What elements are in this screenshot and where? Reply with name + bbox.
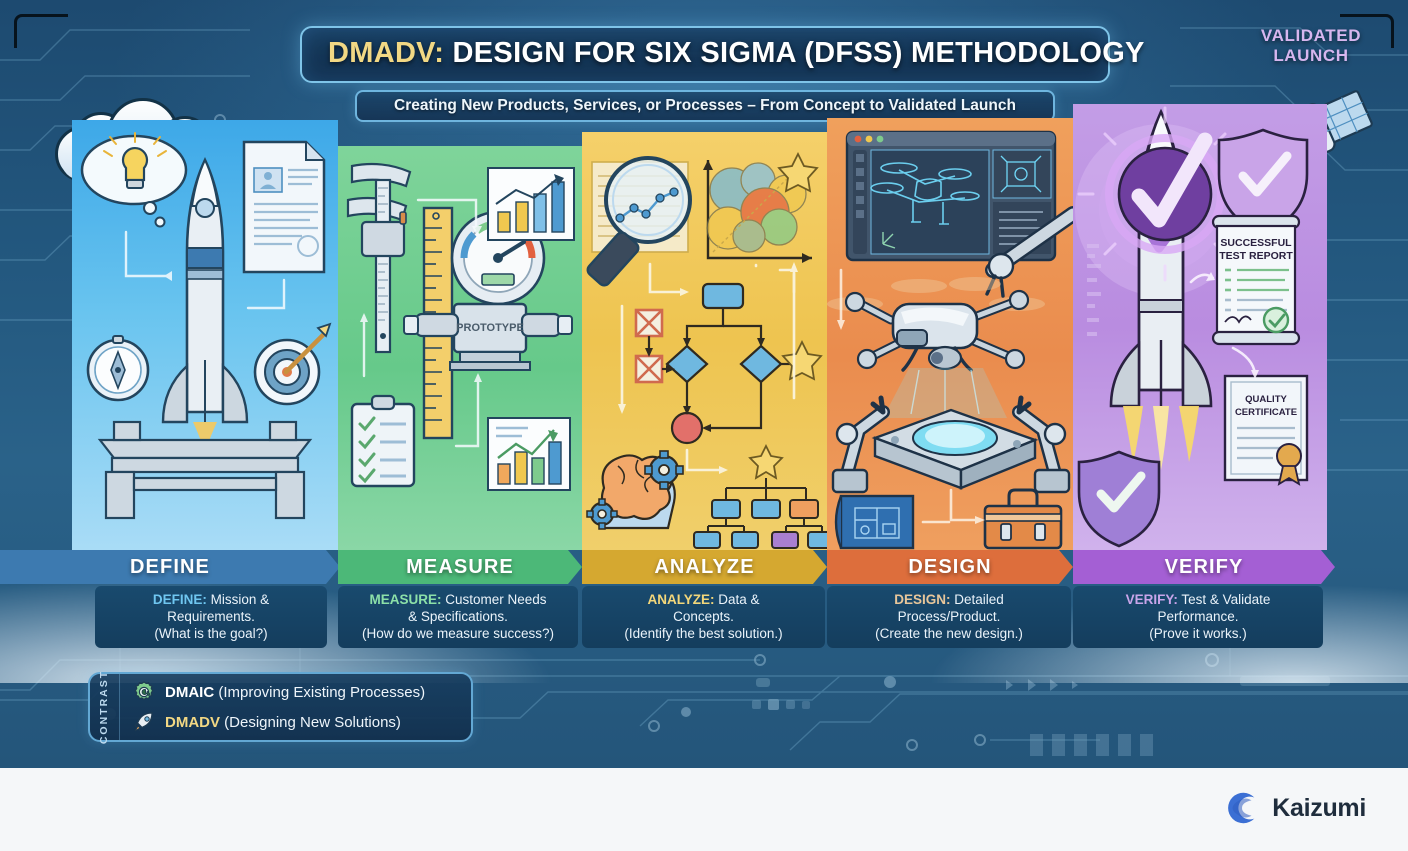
stage-banner-analyze[interactable]: ANALYZE [582,550,827,584]
gear-wrench-icon [132,680,156,704]
desc-line1: Customer Needs [441,592,546,607]
svg-text:CERTIFICATE: CERTIFICATE [1235,407,1297,418]
desc-line3: (What is the goal?) [103,625,319,642]
caliper-icon [348,164,410,352]
contrast-text-dmadv: DMADV (Designing New Solutions) [165,714,401,731]
desc-line3: (Create the new design.) [835,625,1063,642]
contrast-rest-dmadv: (Designing New Solutions) [220,714,401,731]
contrast-row-dmaic: DMAIC (Improving Existing Processes) [132,677,463,707]
desc-line3: (How do we measure success?) [346,625,570,642]
compass-icon [88,336,148,400]
desc-line3: (Prove it works.) [1081,625,1315,642]
stage-panel-measure[interactable]: PROTOTYPE [338,146,582,550]
toolbox-icon [985,490,1061,548]
title-rest: DESIGN FOR SIX SIGMA (DFSS) METHODOLOGY [444,37,1145,69]
footer: Kaizumi [0,768,1408,851]
target-arrow-icon [255,324,330,404]
contrast-bold-dmaic: DMAIC [165,684,214,701]
magnifier-chart-icon [585,158,690,288]
stage-banner-measure[interactable]: MEASURE [338,550,582,584]
define-artwork [72,120,338,550]
title-highlight: DMADV: [328,37,444,69]
brand-logo: Kaizumi [1223,789,1366,827]
svg-text:PROTOTYPE: PROTOTYPE [456,322,524,334]
stage-panel-define[interactable] [72,120,338,550]
header: DMADV: DESIGN FOR SIX SIGMA (DFSS) METHO… [300,26,1110,122]
validated-launch-label: VALIDATED LAUNCH [1236,26,1386,65]
contrast-bold-dmadv: DMADV [165,714,220,731]
desc-keyword: MEASURE: [369,592,441,607]
desc-line2: Performance. [1081,608,1315,625]
corner-bracket-decoration [14,14,68,48]
svg-text:SUCCESSFUL: SUCCESSFUL [1220,237,1292,249]
contrast-rest-dmaic: (Improving Existing Processes) [214,684,425,701]
page-title: DMADV: DESIGN FOR SIX SIGMA (DFSS) METHO… [328,37,1082,70]
shield-check-icon [1079,452,1159,546]
stage-banner-design[interactable]: DESIGN [827,550,1073,584]
stage-banner-label: MEASURE [406,556,514,579]
bubble-scatter-icon [703,154,817,263]
tree-diagram-icon [694,446,827,548]
stage-panel-verify[interactable]: SUCCESSFUL TEST REPORT QUALITY CERTIFICA… [1073,104,1327,550]
desc-line2: & Specifications. [346,608,570,625]
contrast-row-dmadv: DMADV (Designing New Solutions) [132,707,463,737]
blueprint-icon [836,496,913,548]
stage-description-verify: VERIFY: Test & Validate Performance. (Pr… [1073,586,1323,648]
desc-line1: Data & [714,592,759,607]
lightbulb-thought-icon [82,133,186,227]
desc-line1: Test & Validate [1178,592,1271,607]
brand-name: Kaizumi [1272,794,1366,823]
drone-icon [827,277,1045,418]
test-report-scroll-icon: SUCCESSFUL TEST REPORT [1213,216,1299,344]
svg-text:TEST REPORT: TEST REPORT [1219,250,1293,262]
title-banner: DMADV: DESIGN FOR SIX SIGMA (DFSS) METHO… [300,26,1110,83]
contrast-vertical-label: CONTRAST [90,674,120,740]
stage-description-design: DESIGN: Detailed Process/Product. (Creat… [827,586,1071,648]
stage-panels: PROTOTYPE [0,120,1408,550]
bar-chart-icon [488,168,574,240]
rocket-icon [132,710,156,734]
stage-description-define: DEFINE: Mission & Requirements. (What is… [95,586,327,648]
contrast-text-dmaic: DMAIC (Improving Existing Processes) [165,684,425,701]
desc-line2: Concepts. [590,608,817,625]
contrast-legend: CONTRAST DMAIC (Improving Existing Proce… [88,672,473,742]
stage-banner-label: DEFINE [130,556,210,579]
stage-banner-label: VERIFY [1165,556,1244,579]
bar-chart-icon [488,418,570,490]
desc-line2: Process/Product. [835,608,1063,625]
stage-banner-verify[interactable]: VERIFY [1073,550,1335,584]
stage-banner-define[interactable]: DEFINE [0,550,340,584]
stage-description-measure: MEASURE: Customer Needs & Specifications… [338,586,578,648]
desc-keyword: DEFINE: [153,592,207,607]
infographic-canvas: DMADV: DESIGN FOR SIX SIGMA (DFSS) METHO… [0,0,1408,851]
stage-description-row: DEFINE: Mission & Requirements. (What is… [0,586,1408,648]
contrast-rows: DMAIC (Improving Existing Processes) DMA… [120,674,471,740]
validated-launch-line2: LAUNCH [1236,46,1386,66]
analyze-artwork [582,132,827,550]
quality-certificate-icon: QUALITY CERTIFICATE [1225,376,1307,484]
desc-line3: (Identify the best solution.) [590,625,817,642]
desc-line1: Detailed [950,592,1003,607]
rejected-option-icon [636,310,675,382]
kaizumi-wave-c-icon [1223,789,1261,827]
stage-banner-label: ANALYZE [654,556,754,579]
page-subtitle: Creating New Products, Services, or Proc… [371,97,1039,115]
desc-keyword: ANALYZE: [647,592,714,607]
desc-line1: Mission & [207,592,269,607]
verify-artwork: SUCCESSFUL TEST REPORT QUALITY CERTIFICA… [1073,104,1327,550]
clipboard-checklist-icon [352,396,414,486]
stage-panel-analyze[interactable] [582,132,827,550]
assembly-platform-icon [875,410,1035,488]
desc-keyword: DESIGN: [894,592,950,607]
stage-panel-design[interactable] [827,118,1073,550]
contrast-label-text: CONTRAST [99,670,111,744]
stage-description-analyze: ANALYZE: Data & Concepts. (Identify the … [582,586,825,648]
svg-text:QUALITY: QUALITY [1245,394,1287,405]
desc-line2: Requirements. [103,608,319,625]
mission-profile-document-icon [244,142,324,272]
brain-gears-icon [587,451,683,529]
desc-keyword: VERIFY: [1126,592,1178,607]
validated-launch-line1: VALIDATED [1236,26,1386,46]
design-artwork [827,118,1073,550]
stage-banner-label: DESIGN [908,556,991,579]
measure-artwork: PROTOTYPE [338,146,582,550]
stage-banner-row: DEFINE MEASURE ANALYZE DESIGN VERIFY [0,550,1408,584]
